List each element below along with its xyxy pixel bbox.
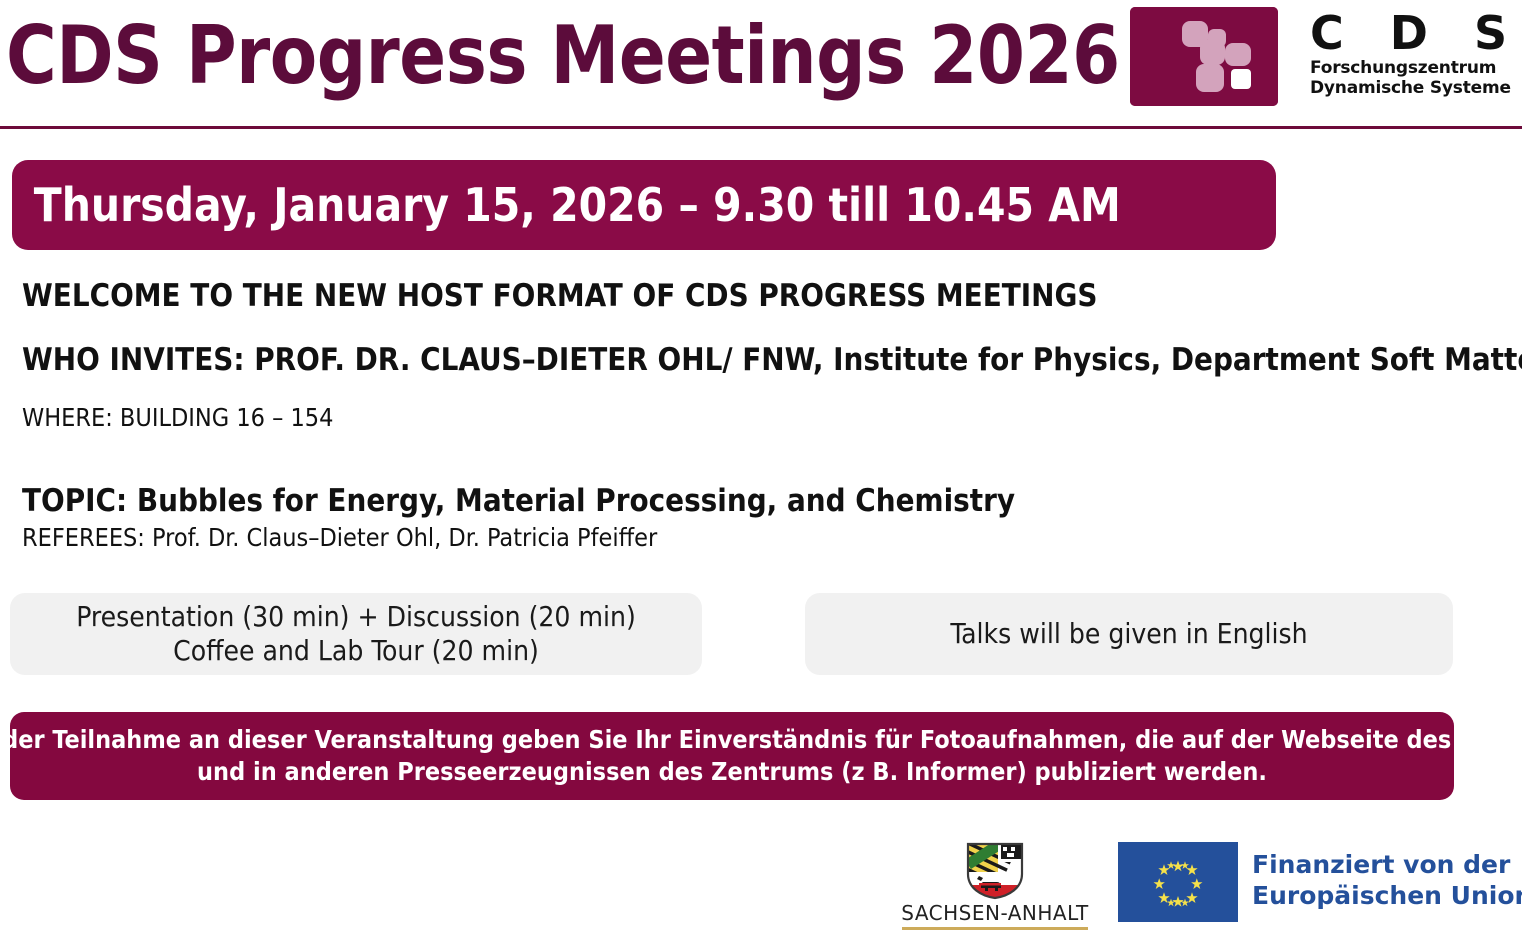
poster-footer: SACHSEN-ANHALT Finanziert von der bbox=[0, 830, 1522, 929]
european-union-logo: Finanziert von der Europäischen Union bbox=[1118, 842, 1522, 922]
header-divider bbox=[0, 126, 1522, 129]
cds-subtitle-line1: Forschungszentrum bbox=[1310, 58, 1522, 78]
eu-funding-text: Finanziert von der Europäischen Union bbox=[1238, 842, 1522, 911]
eu-funding-line-1: Finanziert von der bbox=[1252, 849, 1522, 880]
eu-funding-line-2: Europäischen Union bbox=[1252, 880, 1522, 911]
sachsen-anhalt-coat-of-arms-icon bbox=[965, 842, 1025, 900]
schedule-line-2: Coffee and Lab Tour (20 min) bbox=[76, 634, 636, 668]
welcome-line: WELCOME TO THE NEW HOST FORMAT OF CDS PR… bbox=[22, 276, 1512, 316]
page-title: CDS Progress Meetings 2026 bbox=[6, 8, 1120, 104]
eu-flag-icon bbox=[1118, 842, 1238, 922]
photo-consent-disclaimer: Mit der Teilnahme an dieser Veranstaltun… bbox=[10, 712, 1454, 800]
cds-node-squares-logo bbox=[1130, 7, 1278, 106]
where-line: WHERE: BUILDING 16 – 154 bbox=[22, 402, 1512, 434]
referees-line: REFEREES: Prof. Dr. Claus–Dieter Ohl, Dr… bbox=[22, 522, 1512, 554]
cds-letters: C D S bbox=[1310, 8, 1522, 58]
date-banner: Thursday, January 15, 2026 – 9.30 till 1… bbox=[12, 160, 1276, 250]
schedule-info-box: Presentation (30 min) + Discussion (20 m… bbox=[10, 593, 702, 675]
disclaimer-line-1: Mit der Teilnahme an dieser Veranstaltun… bbox=[0, 724, 1511, 756]
event-details: WELCOME TO THE NEW HOST FORMAT OF CDS PR… bbox=[22, 276, 1512, 554]
who-invites-line: WHO INVITES: PROF. DR. CLAUS–DIETER OHL/… bbox=[22, 340, 1512, 380]
language-line-1: Talks will be given in English bbox=[950, 617, 1307, 651]
cds-wordmark: C D S Forschungszentrum Dynamische Syste… bbox=[1310, 8, 1522, 98]
schedule-line-1: Presentation (30 min) + Discussion (20 m… bbox=[76, 600, 636, 634]
disclaimer-line-2: und in anderen Presseerzeugnissen des Ze… bbox=[0, 756, 1511, 788]
language-info-box: Talks will be given in English bbox=[805, 593, 1453, 675]
sachsen-anhalt-label: SACHSEN-ANHALT bbox=[897, 900, 1093, 925]
sachsen-anhalt-logo: SACHSEN-ANHALT bbox=[897, 842, 1093, 930]
topic-line: TOPIC: Bubbles for Energy, Material Proc… bbox=[22, 482, 1512, 520]
poster-header: CDS Progress Meetings 2026 C D S Forschu… bbox=[0, 0, 1522, 128]
date-banner-text: Thursday, January 15, 2026 – 9.30 till 1… bbox=[12, 180, 1121, 230]
cds-subtitle-line2: Dynamische Systeme bbox=[1310, 78, 1522, 98]
